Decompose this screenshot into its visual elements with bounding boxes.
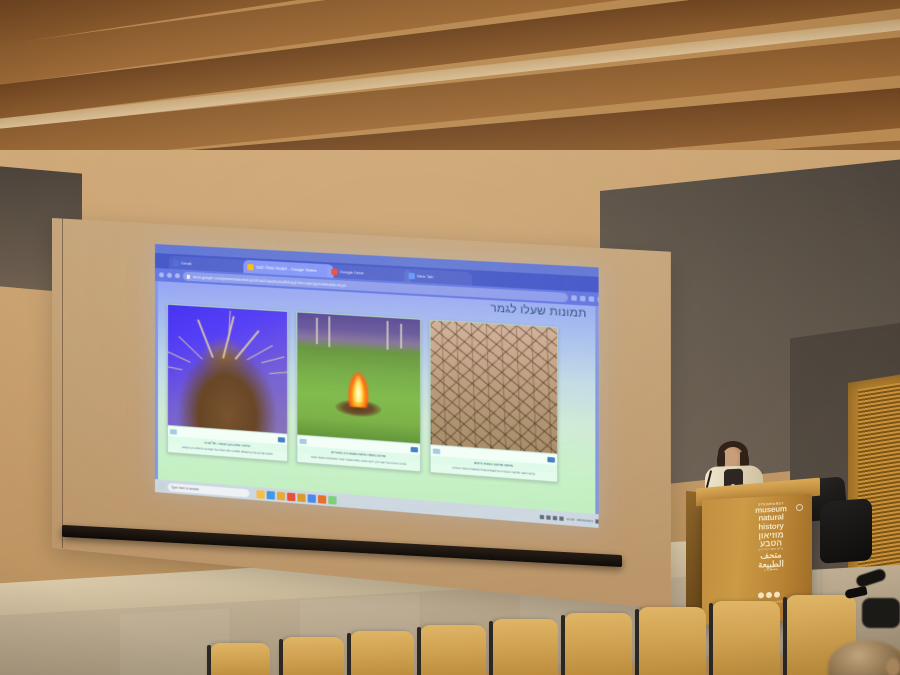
auditorium-chair[interactable] [420,625,486,675]
logo-dot [758,592,764,598]
share-chip-icon[interactable] [411,446,418,452]
slide-title: תמונות שעלו לגמר [490,302,586,320]
logo-dot [774,591,780,597]
projection-screen: Gmail תמונות שעלו לגמר - Google Slides G… [52,218,627,548]
seated-person [862,598,900,628]
tab-title: Google Drive [340,269,364,275]
reload-icon[interactable] [175,273,180,278]
screen-edge-cord [62,218,63,548]
tree-trunk-photo [168,305,287,434]
bookmark-star-icon[interactable] [571,295,576,301]
tab-favicon [331,268,337,274]
chevron-up-icon[interactable] [540,514,544,519]
avatar-chip [433,448,440,454]
tab-title: New Tab [417,273,433,279]
avatar-chip [170,429,177,435]
powerpoint-icon[interactable] [318,495,326,504]
projected-screen-image: Gmail תמונות שעלו לגמר - Google Slides G… [155,244,599,528]
profile-avatar[interactable] [589,296,594,302]
fire-core [354,375,363,402]
tab-favicon [247,264,253,270]
zoom-icon[interactable] [328,495,336,504]
avatar-chip [299,438,306,444]
tab-favicon [173,259,179,265]
tab-favicon [409,272,415,279]
search-placeholder: Type here to search [171,485,199,491]
tab-title: תמונות שעלו לגמר - Google Slides [255,264,316,272]
excel-icon[interactable] [287,492,295,501]
windows-start-icon[interactable] [158,482,165,490]
mail-icon[interactable] [267,490,275,499]
auditorium-chair[interactable] [712,601,780,675]
share-chip-icon[interactable] [547,456,555,462]
lock-icon [187,274,190,278]
volume-icon[interactable] [560,516,564,521]
auditorium-chair[interactable] [282,637,344,675]
photos-icon[interactable] [277,491,285,500]
share-chip-icon[interactable] [278,437,285,443]
campfire-photo [297,312,420,443]
taskbar-clock-time[interactable]: 13:28 [566,516,574,521]
taskbar-clock-date[interactable]: 08/06/2023 [577,517,593,523]
notifications-icon[interactable] [595,519,598,524]
auditorium-photo: Gmail תמונות שעלו לגמר - Google Slides G… [0,0,900,675]
slide-card-row: צילום: עצים בגן הבוטני, תל־אביב תמונה של… [167,304,586,485]
forward-arrow-icon[interactable] [167,273,172,278]
menu-icon[interactable] [598,297,599,303]
logo-dots [758,591,780,598]
slide-card[interactable]: אדמה סדוקה בעונת היובש קרקע יבשה וסדוקה … [430,319,559,482]
logo-dot [766,592,772,598]
auditorium-chair[interactable] [492,619,558,675]
tab-title: Gmail [181,260,191,266]
foreground-person-ear [886,658,900,675]
extensions-icon[interactable] [580,296,585,302]
auditorium-chair[interactable] [638,607,706,675]
auditorium-chair[interactable] [564,613,632,675]
slide-card[interactable]: מדורה בשדה פתוח בשעת בין הערביים מדורה ב… [296,311,421,472]
word-icon[interactable] [297,493,305,502]
slide-card[interactable]: צילום: עצים בגן הבוטני, תל־אביב תמונה של… [167,304,288,462]
back-arrow-icon[interactable] [159,272,164,277]
network-icon[interactable] [553,515,557,520]
cracked-earth-photo [431,320,557,453]
museum-logo: STEINHARDT museum natural history מוזיאו… [744,502,798,573]
chrome-icon[interactable] [308,494,316,503]
onedrive-icon[interactable] [547,515,551,520]
file-explorer-icon[interactable] [257,490,265,499]
system-tray: 13:28 08/06/2023 [540,514,598,523]
equipment-bag [820,498,872,564]
auditorium-chair[interactable] [350,631,414,675]
auditorium-chair[interactable] [210,643,270,675]
slide-canvas: תמונות שעלו לגמר [158,281,595,514]
